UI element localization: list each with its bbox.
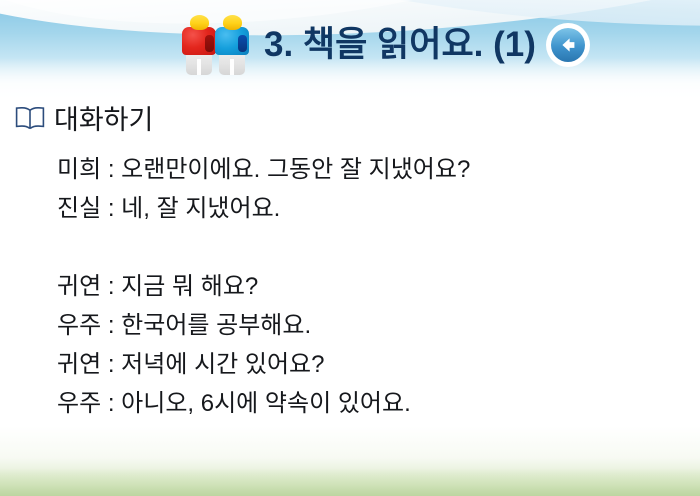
person-head [190,15,209,30]
dialogue-spacer [57,228,677,267]
section-title: 대화하기 [54,107,153,134]
person-figure-blue [215,15,249,75]
person-arm [238,35,247,52]
dialogue-block: 미희 : 오랜만이에요. 그동안 잘 지냈어요? 진실 : 네, 잘 지냈어요.… [57,150,677,423]
title-row: 3. 책을 읽어요. (1) [182,6,590,84]
two-people-icon [182,9,258,81]
back-button[interactable] [546,23,590,67]
dialogue-line: 귀연 : 저녁에 시간 있어요? [57,345,677,384]
slide: 3. 책을 읽어요. (1) 대화하기 [0,0,700,496]
dialogue-line: 진실 : 네, 잘 지냈어요. [57,189,677,228]
arrow-left-circle-icon [551,28,585,62]
person-head [223,15,242,30]
background-grass-gradient [0,426,700,496]
dialogue-line: 우주 : 한국어를 공부해요. [57,306,677,345]
section-heading: 대화하기 [14,105,153,136]
dialogue-line: 우주 : 아니오, 6시에 약속이 있어요. [57,384,677,423]
background-grass-tint [0,468,700,496]
page-title: 3. 책을 읽어요. (1) [264,27,536,64]
dialogue-line: 미희 : 오랜만이에요. 그동안 잘 지냈어요? [57,150,677,189]
person-figure-red [182,15,216,75]
person-arm [205,35,214,52]
open-book-icon [14,105,46,136]
dialogue-line: 귀연 : 지금 뭐 해요? [57,267,677,306]
